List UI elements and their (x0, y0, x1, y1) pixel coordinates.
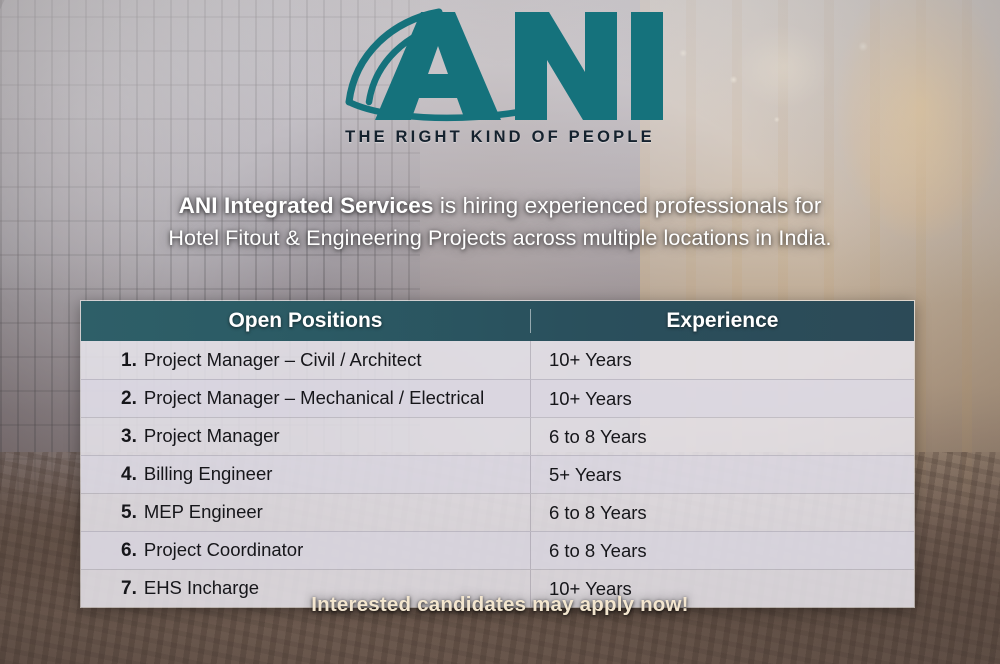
cell-experience: 6 to 8 Years (530, 532, 914, 569)
row-number: 4. (121, 464, 137, 486)
position-title: MEP Engineer (144, 501, 263, 523)
cell-position: 1. Project Manager – Civil / Architect (81, 349, 530, 372)
cell-experience: 5+ Years (530, 456, 914, 493)
cell-experience: 10+ Years (530, 341, 914, 379)
headline-line-2: Hotel Fitout & Engineering Projects acro… (0, 222, 1000, 255)
open-positions-table: Open Positions Experience 1. Project Man… (80, 300, 915, 608)
row-number: 5. (121, 502, 137, 524)
headline-line-1-rest: is hiring experienced professionals for (433, 193, 821, 218)
row-number: 2. (121, 388, 137, 410)
row-number: 3. (121, 426, 137, 448)
cell-position: 4. Billing Engineer (81, 463, 530, 486)
cell-position: 2. Project Manager – Mechanical / Electr… (81, 387, 530, 410)
table-row: 5. MEP Engineer 6 to 8 Years (81, 493, 914, 531)
headline-company-name: ANI Integrated Services (179, 193, 434, 218)
headline-line-1: ANI Integrated Services is hiring experi… (0, 190, 1000, 222)
recruitment-poster: THE RIGHT KIND OF PEOPLE ANI Integrated … (0, 0, 1000, 664)
call-to-action-text: Interested candidates may apply now! (0, 593, 1000, 617)
table-body: 1. Project Manager – Civil / Architect 1… (81, 341, 914, 607)
cell-experience: 6 to 8 Years (530, 494, 914, 531)
position-title: Project Coordinator (144, 539, 303, 561)
table-row: 3. Project Manager 6 to 8 Years (81, 417, 914, 455)
column-header-open-positions: Open Positions (81, 309, 530, 333)
row-number: 1. (121, 350, 137, 372)
cell-experience: 6 to 8 Years (530, 418, 914, 455)
table-row: 4. Billing Engineer 5+ Years (81, 455, 914, 493)
table-row: 2. Project Manager – Mechanical / Electr… (81, 379, 914, 417)
ani-letters (375, 12, 663, 120)
cell-position: 5. MEP Engineer (81, 501, 530, 524)
position-title: Project Manager (144, 425, 280, 447)
row-number: 6. (121, 540, 137, 562)
position-title: Project Manager – Civil / Architect (144, 349, 422, 371)
position-title: Billing Engineer (144, 463, 273, 485)
cell-position: 6. Project Coordinator (81, 539, 530, 562)
cell-experience: 10+ Years (530, 380, 914, 417)
position-title: Project Manager – Mechanical / Electrica… (144, 387, 484, 409)
table-row: 1. Project Manager – Civil / Architect 1… (81, 341, 914, 379)
ani-logotype (335, 6, 665, 124)
column-header-experience: Experience (530, 309, 914, 333)
cell-position: 3. Project Manager (81, 425, 530, 448)
table-header-row: Open Positions Experience (81, 301, 914, 341)
brand-tagline: THE RIGHT KIND OF PEOPLE (345, 128, 655, 147)
brand-logo: THE RIGHT KIND OF PEOPLE (0, 6, 1000, 166)
table-row: 6. Project Coordinator 6 to 8 Years (81, 531, 914, 569)
headline: ANI Integrated Services is hiring experi… (0, 190, 1000, 255)
